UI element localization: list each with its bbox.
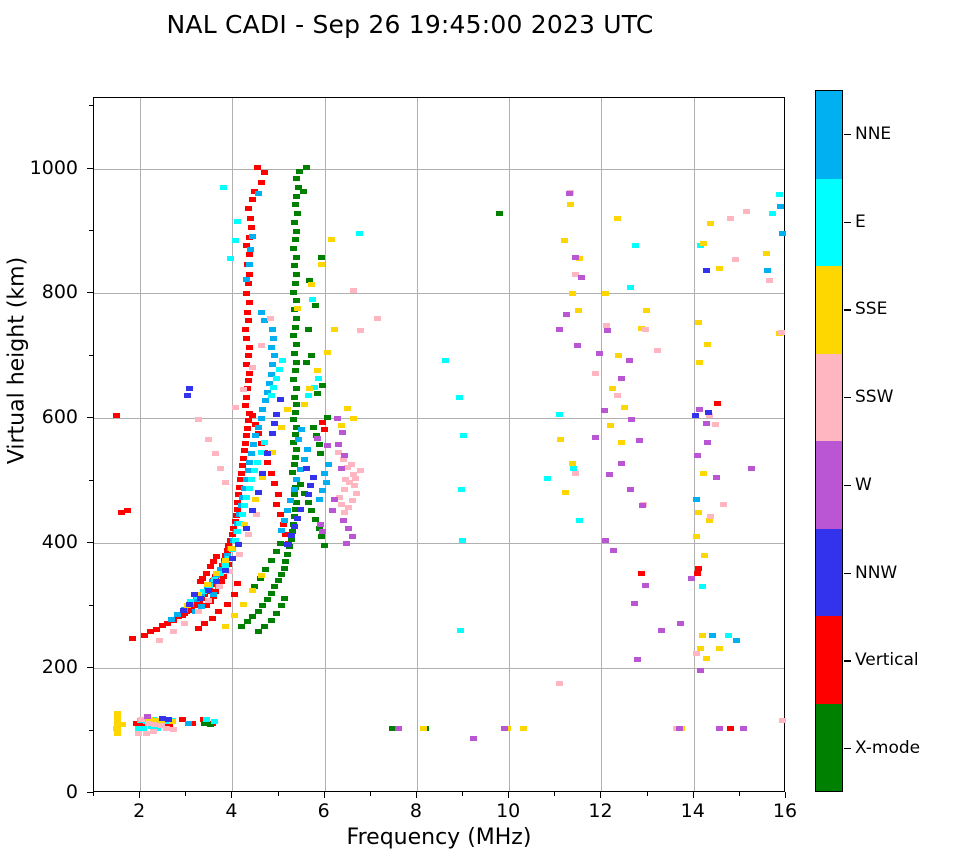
data-point — [261, 624, 268, 629]
data-point — [699, 584, 706, 589]
data-point — [704, 342, 711, 347]
data-point — [245, 318, 252, 323]
y-axis-tick-label: 1000 — [30, 157, 78, 179]
colorbar-band-nnw — [816, 529, 842, 617]
data-point — [255, 629, 262, 634]
data-point — [249, 197, 256, 202]
data-point — [284, 542, 291, 547]
data-point — [243, 291, 250, 296]
data-point — [227, 256, 234, 261]
x-axis-tick-minor — [739, 792, 740, 796]
data-point — [338, 423, 345, 428]
data-point — [203, 571, 210, 576]
data-point — [575, 308, 582, 313]
data-point — [592, 435, 599, 440]
data-point — [114, 711, 121, 716]
data-point — [602, 538, 609, 543]
data-point — [229, 556, 236, 561]
data-point — [592, 371, 599, 376]
y-axis-tick-label: 400 — [42, 531, 78, 553]
data-point — [195, 626, 202, 631]
data-point — [246, 345, 253, 350]
data-point — [351, 483, 358, 488]
data-point — [242, 327, 249, 332]
data-point — [727, 216, 734, 221]
data-point — [245, 418, 252, 423]
data-point — [614, 393, 621, 398]
data-point — [245, 353, 252, 358]
data-point — [566, 191, 573, 196]
data-point — [348, 462, 355, 467]
data-point — [297, 482, 304, 487]
data-point — [199, 576, 206, 581]
data-point — [270, 336, 277, 341]
data-point — [243, 526, 250, 531]
data-point — [288, 533, 295, 538]
data-point — [292, 281, 299, 286]
colorbar-label-sse: SSE — [855, 299, 887, 319]
data-point — [300, 189, 307, 194]
data-point — [344, 406, 351, 411]
data-point — [249, 614, 256, 619]
data-point — [307, 483, 314, 488]
x-axis-tick — [139, 792, 140, 798]
data-point — [305, 500, 312, 505]
data-point — [271, 353, 278, 358]
data-point — [291, 395, 298, 400]
data-point — [696, 407, 703, 412]
data-point — [705, 410, 712, 415]
data-point — [357, 468, 364, 473]
data-point — [269, 327, 276, 332]
data-point — [273, 549, 280, 554]
data-point — [374, 316, 381, 321]
data-point — [395, 726, 402, 731]
data-point — [247, 216, 254, 221]
data-point — [228, 546, 235, 551]
data-point — [293, 194, 300, 199]
data-point — [290, 333, 297, 338]
y-axis-tick-minor — [89, 230, 93, 231]
data-point — [305, 393, 312, 398]
data-point — [289, 470, 296, 475]
data-point — [314, 436, 321, 441]
data-point — [252, 433, 259, 438]
data-point — [249, 234, 256, 239]
colorbar-label-e: E — [855, 212, 866, 232]
data-point — [301, 402, 308, 407]
data-point — [420, 726, 427, 731]
data-point — [276, 367, 283, 372]
y-axis-tick — [87, 792, 93, 793]
data-point — [268, 345, 275, 350]
colorbar-band-nne — [816, 91, 842, 179]
data-point — [281, 596, 288, 601]
data-point — [631, 601, 638, 606]
data-point — [113, 413, 120, 418]
colorbar — [815, 90, 843, 792]
data-point — [699, 633, 706, 638]
x-axis-tick-minor — [647, 792, 648, 796]
data-point — [349, 498, 356, 503]
data-point — [707, 514, 714, 519]
data-point — [249, 588, 256, 593]
data-point — [271, 481, 278, 486]
y-axis-tick-minor — [89, 355, 93, 356]
data-point — [224, 602, 231, 607]
data-point — [254, 165, 261, 170]
data-point — [215, 609, 222, 614]
data-point — [236, 552, 243, 557]
data-point — [695, 320, 702, 325]
data-point — [643, 308, 650, 313]
data-point — [769, 211, 776, 216]
data-point — [290, 246, 297, 251]
y-axis-tick-minor — [89, 480, 93, 481]
data-point — [638, 571, 645, 576]
data-point — [642, 583, 649, 588]
data-point — [114, 716, 121, 721]
data-point — [607, 423, 614, 428]
data-point — [676, 726, 683, 731]
data-point — [712, 422, 719, 427]
data-point — [273, 611, 280, 616]
data-point — [181, 621, 188, 626]
data-point — [249, 413, 256, 418]
data-point — [353, 491, 360, 496]
data-point — [275, 578, 282, 583]
data-point — [470, 736, 477, 741]
data-point — [627, 487, 634, 492]
data-point — [150, 729, 157, 734]
data-point — [319, 529, 326, 534]
data-point — [275, 492, 282, 497]
data-point — [725, 633, 732, 638]
data-point — [578, 275, 585, 280]
colorbar-label-vertical: Vertical — [855, 650, 919, 670]
x-axis-tick-minor — [370, 792, 371, 796]
data-point — [264, 460, 271, 465]
data-point — [335, 442, 342, 447]
data-point — [290, 290, 297, 295]
data-point — [291, 263, 298, 268]
data-point — [249, 365, 256, 370]
data-point — [618, 461, 625, 466]
y-axis-tick — [87, 417, 93, 418]
data-point — [779, 718, 786, 723]
data-point — [242, 441, 249, 446]
data-point — [569, 291, 576, 296]
data-point — [186, 602, 193, 607]
data-point — [732, 257, 739, 262]
data-point — [234, 581, 241, 586]
data-point — [308, 282, 315, 287]
data-point — [262, 567, 269, 572]
data-point — [293, 447, 300, 452]
data-point — [291, 220, 298, 225]
data-point — [293, 272, 300, 277]
data-point — [234, 219, 241, 224]
data-point — [284, 552, 291, 557]
x-axis-tick-label: 4 — [225, 800, 237, 822]
colorbar-band-w — [816, 441, 842, 529]
data-point — [213, 579, 220, 584]
data-point — [293, 342, 300, 347]
data-point — [350, 416, 357, 421]
data-point — [297, 507, 304, 512]
data-point — [247, 247, 254, 252]
data-point — [243, 336, 250, 341]
data-point — [695, 510, 702, 515]
data-point — [254, 460, 261, 465]
x-axis-tick-minor — [93, 792, 94, 796]
colorbar-label-ssw: SSW — [855, 387, 893, 407]
x-axis-tick-minor — [185, 792, 186, 796]
data-point — [135, 731, 142, 736]
data-point — [602, 291, 609, 296]
data-point — [277, 397, 284, 402]
data-point — [292, 455, 299, 460]
data-point — [779, 231, 786, 236]
data-point — [334, 416, 341, 421]
data-point — [144, 714, 151, 719]
x-axis-tick-label: 12 — [588, 800, 612, 822]
data-point — [222, 568, 229, 573]
data-point — [309, 297, 316, 302]
data-point — [693, 497, 700, 502]
data-point — [270, 385, 277, 390]
data-point — [259, 603, 266, 608]
data-point — [248, 225, 255, 230]
data-point — [232, 405, 239, 410]
data-point — [544, 476, 551, 481]
x-axis-tick-label: 10 — [496, 800, 520, 822]
data-point — [293, 255, 300, 260]
data-point — [301, 457, 308, 462]
data-point — [310, 475, 317, 480]
x-axis-tick-minor — [462, 792, 463, 796]
ionogram-figure: NAL CADI - Sep 26 19:45:00 2023 UTC 2468… — [0, 0, 958, 857]
data-point — [258, 416, 265, 421]
data-point — [268, 393, 275, 398]
data-point — [261, 170, 268, 175]
data-point — [716, 646, 723, 651]
colorbar-tick — [844, 485, 851, 486]
data-point — [703, 656, 710, 661]
data-point — [713, 475, 720, 480]
data-point — [692, 413, 699, 418]
data-point — [318, 255, 325, 260]
data-point — [258, 180, 265, 185]
data-point — [777, 204, 784, 209]
data-point — [596, 351, 603, 356]
data-point — [222, 624, 229, 629]
y-axis-tick-minor — [89, 605, 93, 606]
data-layer — [94, 98, 784, 791]
y-axis-title: Virtual height (km) — [5, 11, 30, 711]
data-point — [250, 442, 257, 447]
data-point — [282, 559, 289, 564]
data-point — [572, 471, 579, 476]
data-point — [766, 278, 773, 283]
data-point — [292, 202, 299, 207]
data-point — [278, 603, 285, 608]
colorbar-band-x-mode — [816, 704, 842, 792]
data-point — [356, 231, 363, 236]
data-point — [319, 383, 326, 388]
data-point — [626, 358, 633, 363]
data-point — [456, 395, 463, 400]
colorbar-tick — [844, 573, 851, 574]
data-point — [258, 343, 265, 348]
data-point — [165, 717, 172, 722]
data-point — [338, 466, 345, 471]
data-point — [264, 597, 271, 602]
data-point — [293, 386, 300, 391]
data-point — [316, 442, 323, 447]
data-point — [205, 437, 212, 442]
data-point — [677, 621, 684, 626]
data-point — [654, 348, 661, 353]
data-point — [716, 266, 723, 271]
data-point — [700, 241, 707, 246]
data-point — [246, 252, 253, 257]
data-point — [324, 350, 331, 355]
data-point — [314, 391, 321, 396]
data-point — [292, 325, 299, 330]
data-point — [243, 495, 250, 500]
data-point — [458, 487, 465, 492]
data-point — [693, 534, 700, 539]
data-point — [343, 541, 350, 546]
data-point — [658, 628, 665, 633]
data-point — [325, 462, 332, 467]
data-point — [293, 176, 300, 181]
data-point — [341, 487, 348, 492]
data-point — [258, 310, 265, 315]
data-point — [201, 621, 208, 626]
data-point — [324, 443, 331, 448]
colorbar-tick — [844, 748, 851, 749]
data-point — [697, 668, 704, 673]
colorbar-tick — [844, 397, 851, 398]
y-axis-tick — [87, 667, 93, 668]
plot-area — [93, 97, 785, 792]
data-point — [231, 613, 238, 618]
data-point — [287, 498, 294, 503]
data-point — [743, 209, 750, 214]
data-point — [321, 427, 328, 432]
data-point — [124, 508, 131, 513]
data-point — [258, 573, 265, 578]
colorbar-label-nnw: NNW — [855, 563, 897, 583]
data-point — [556, 412, 563, 417]
data-point — [618, 440, 625, 445]
data-point — [778, 330, 785, 335]
data-point — [290, 417, 297, 422]
data-point — [222, 480, 229, 485]
data-point — [246, 460, 253, 465]
colorbar-tick — [844, 309, 851, 310]
colorbar-band-sse — [816, 266, 842, 354]
data-point — [459, 538, 466, 543]
data-point — [318, 534, 325, 539]
data-point — [303, 360, 310, 365]
data-point — [496, 211, 503, 216]
data-point — [207, 564, 214, 569]
data-point — [563, 312, 570, 317]
data-point — [241, 448, 248, 453]
data-point — [203, 717, 210, 722]
data-point — [292, 410, 299, 415]
data-point — [294, 306, 301, 311]
data-point — [119, 722, 126, 727]
data-point — [700, 471, 707, 476]
colorbar-label-x-mode: X-mode — [855, 738, 920, 758]
data-point — [273, 412, 280, 417]
data-point — [293, 316, 300, 321]
y-axis-tick-label: 600 — [42, 406, 78, 428]
data-point — [601, 408, 608, 413]
data-point — [278, 425, 285, 430]
data-point — [321, 543, 328, 548]
data-point — [764, 268, 771, 273]
data-point — [220, 185, 227, 190]
data-point — [255, 609, 262, 614]
data-point — [342, 477, 349, 482]
data-point — [293, 298, 300, 303]
data-point — [261, 440, 268, 445]
data-point — [292, 237, 299, 242]
data-point — [216, 584, 223, 589]
data-point — [129, 636, 136, 641]
data-point — [255, 191, 262, 196]
data-point — [243, 433, 250, 438]
data-point — [305, 492, 312, 497]
data-point — [628, 417, 635, 422]
data-point — [156, 638, 163, 643]
x-axis-tick — [416, 792, 417, 798]
x-axis-tick — [231, 792, 232, 798]
data-point — [572, 255, 579, 260]
data-point — [268, 471, 275, 476]
data-point — [246, 262, 253, 267]
data-point — [240, 387, 247, 392]
data-point — [259, 471, 266, 476]
data-point — [195, 609, 202, 614]
data-point — [293, 229, 300, 234]
data-point — [707, 221, 714, 226]
data-point — [328, 237, 335, 242]
data-point — [249, 508, 256, 513]
data-point — [245, 532, 252, 537]
data-point — [268, 591, 275, 596]
data-point — [324, 415, 331, 420]
data-point — [232, 238, 239, 243]
x-axis-tick-label: 6 — [318, 800, 330, 822]
data-point — [231, 592, 238, 597]
data-point — [170, 727, 177, 732]
data-point — [291, 487, 298, 492]
y-axis-tick-minor — [89, 730, 93, 731]
y-axis-tick — [87, 292, 93, 293]
data-point — [319, 488, 326, 493]
colorbar-label-nne: NNE — [855, 124, 891, 144]
data-point — [222, 558, 229, 563]
data-point — [195, 417, 202, 422]
data-point — [312, 303, 319, 308]
data-point — [246, 300, 253, 305]
